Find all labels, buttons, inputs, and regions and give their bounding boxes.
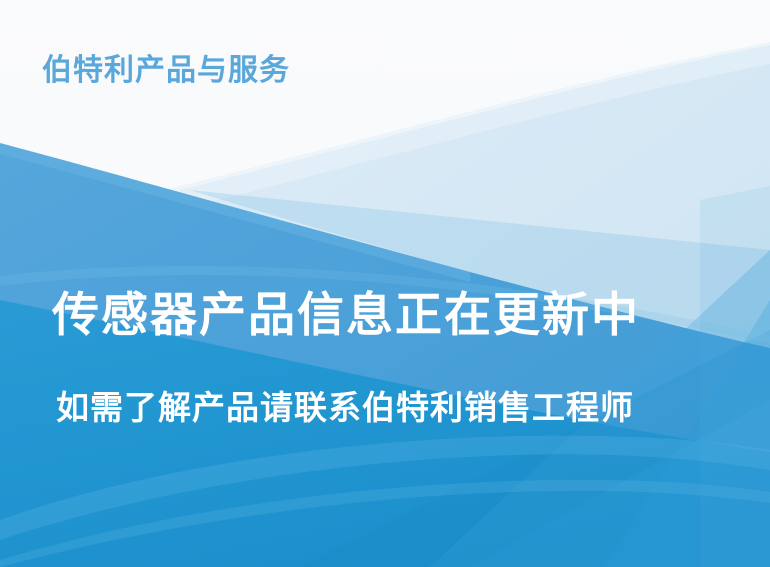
- message-block: 传感器产品信息正在更新中 如需了解产品请联系伯特利销售工程师: [0, 292, 770, 424]
- headline-primary: 传感器产品信息正在更新中: [0, 292, 770, 339]
- product-placeholder-banner: 伯特利产品与服务 传感器产品信息正在更新中 如需了解产品请联系伯特利销售工程师: [0, 0, 770, 567]
- headline-secondary: 如需了解产品请联系伯特利销售工程师: [0, 391, 770, 424]
- page-title: 伯特利产品与服务: [42, 45, 290, 89]
